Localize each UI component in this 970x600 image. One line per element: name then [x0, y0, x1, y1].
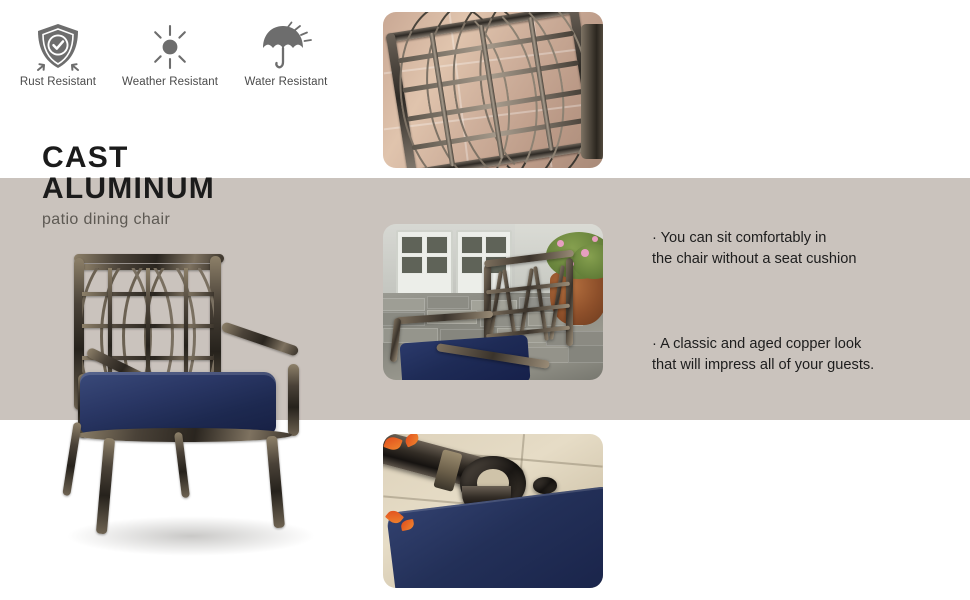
chair-armrest-right: [221, 321, 300, 357]
feature-water-resistant: Water Resistant: [228, 18, 344, 88]
french-door-left: [396, 230, 453, 296]
chair-leg-back-left: [62, 422, 81, 496]
armrest-joint-bolt: [533, 477, 557, 494]
headline-block: CAST ALUMINUM patio dining chair: [42, 142, 372, 229]
hero-chair-image: [52, 246, 348, 566]
headline-subtitle: patio dining chair: [42, 211, 372, 229]
benefit-bullet-2-line-2: that will impress all of your guests.: [652, 355, 952, 376]
benefit-bullet-2: · A classic and aged copper look that wi…: [652, 334, 952, 376]
feature-label: Rust Resistant: [0, 76, 116, 88]
feature-label: Water Resistant: [228, 76, 344, 88]
headline-line-2: ALUMINUM: [42, 173, 372, 204]
benefit-bullet-1: · You can sit comfortably in the chair w…: [652, 228, 952, 270]
feature-weather-resistant: Weather Resistant: [112, 18, 228, 88]
navy-seat-cushion: [80, 372, 276, 434]
feature-label: Weather Resistant: [112, 76, 228, 88]
headline-line-1: CAST: [42, 142, 372, 173]
chair-back-post-right: [566, 258, 573, 345]
feature-badges: Rust Resistant Weather Resistant: [0, 18, 360, 108]
chair-top-rail: [74, 254, 224, 263]
benefit-copy: · You can sit comfortably in the chair w…: [652, 228, 952, 376]
lattice-panel: [386, 12, 600, 168]
chair-arm-post-right: [288, 364, 299, 436]
chair-leg-front-right: [266, 436, 285, 529]
feature-rust-resistant: Rust Resistant: [0, 18, 116, 88]
benefit-bullet-1-line-1: · You can sit comfortably in: [652, 228, 952, 249]
shield-check-icon: [0, 18, 116, 76]
sun-icon: [112, 18, 228, 76]
photo-patio-scene: [383, 224, 603, 380]
photo-armrest-detail: [383, 434, 603, 588]
umbrella-icon: [228, 18, 344, 76]
benefit-bullet-2-line-1: · A classic and aged copper look: [652, 334, 952, 355]
photo-lattice-backrest-closeup: [383, 12, 603, 168]
benefit-bullet-1-line-2: the chair without a seat cushion: [652, 249, 952, 270]
